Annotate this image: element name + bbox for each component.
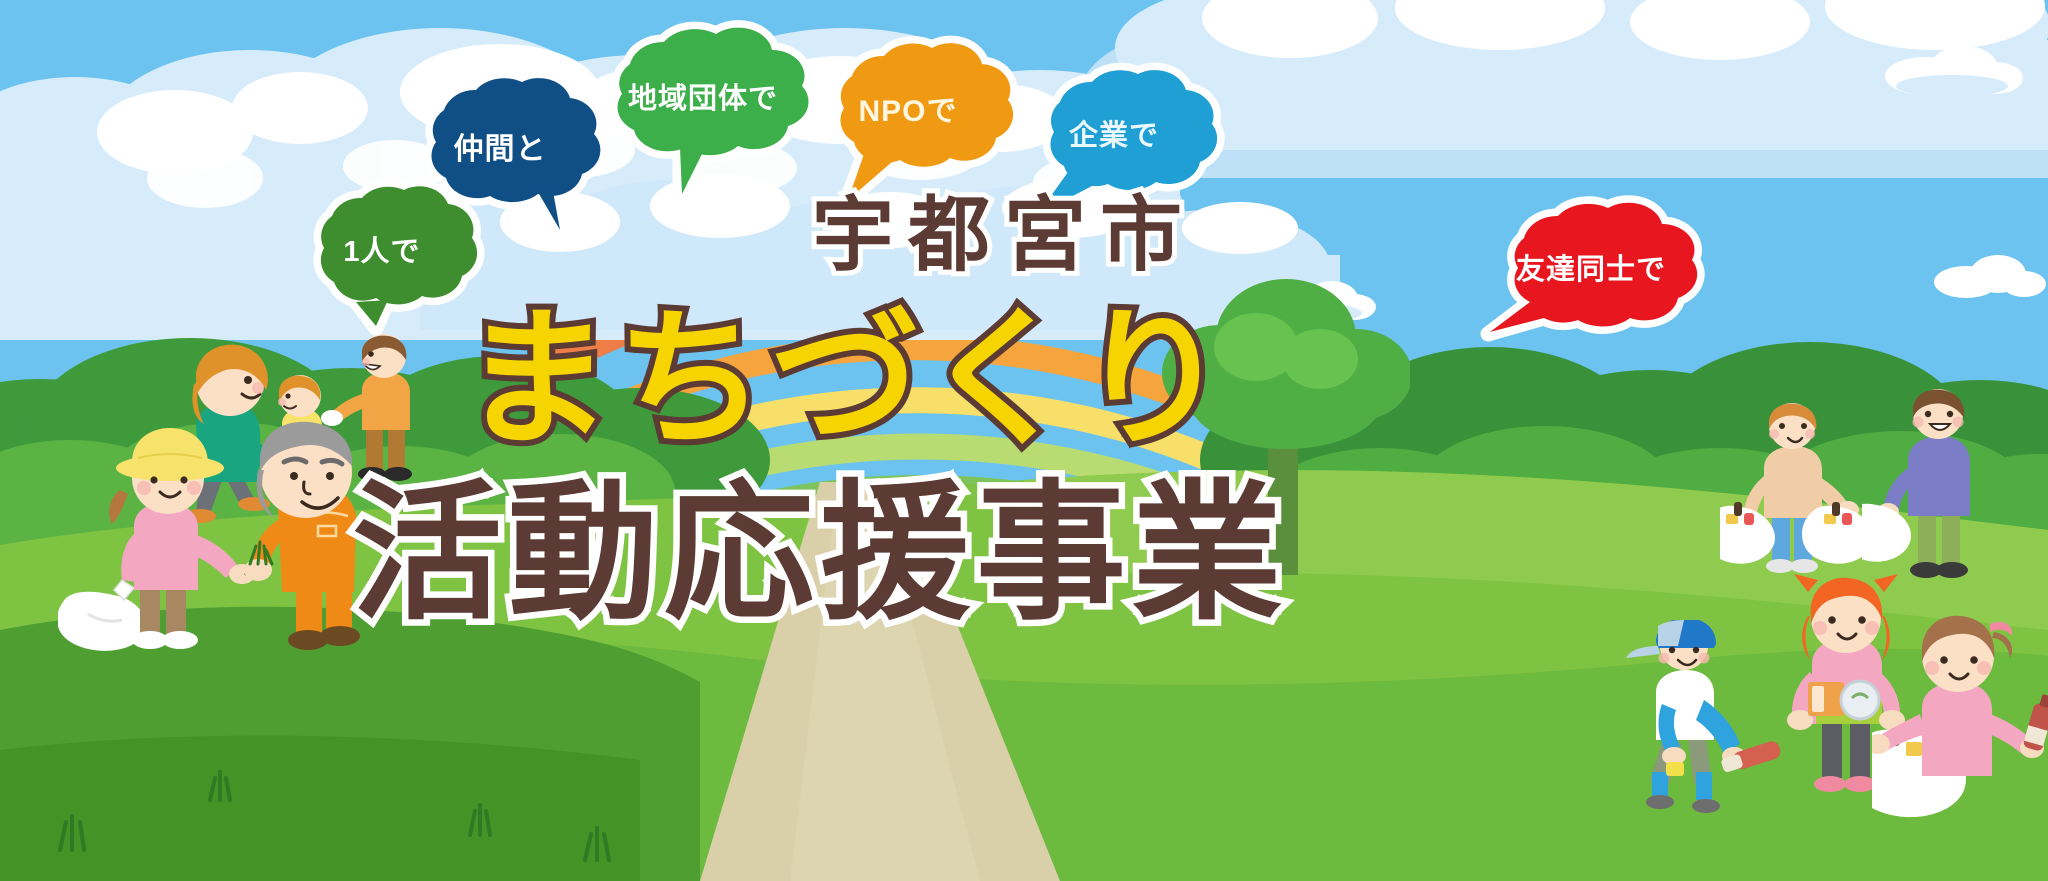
bubble-local-org-label: 地域団体で bbox=[628, 75, 778, 117]
title-sub: 活動応援事業 bbox=[352, 432, 1288, 649]
small-cloud-right bbox=[1930, 250, 2048, 307]
bubble-company-label: 企業で bbox=[1069, 112, 1159, 154]
banner-root: 1人で 仲間と 地域団体で bbox=[0, 0, 2048, 881]
small-cloud-top-right bbox=[1880, 40, 2030, 105]
bubble-with-peers-label: 仲間と bbox=[454, 124, 547, 168]
bubble-friends-label: 友達同士で bbox=[1516, 246, 1666, 288]
person-teen-purple bbox=[1862, 386, 2022, 601]
bubble-npo[interactable]: NPOで bbox=[812, 56, 1004, 160]
bubble-npo-label: NPOで bbox=[858, 86, 957, 130]
bubble-local-org[interactable]: 地域団体で bbox=[588, 42, 818, 150]
bubble-friends[interactable]: 友達同士で bbox=[1484, 216, 1698, 318]
person-girl-ponytail bbox=[1872, 608, 2048, 843]
